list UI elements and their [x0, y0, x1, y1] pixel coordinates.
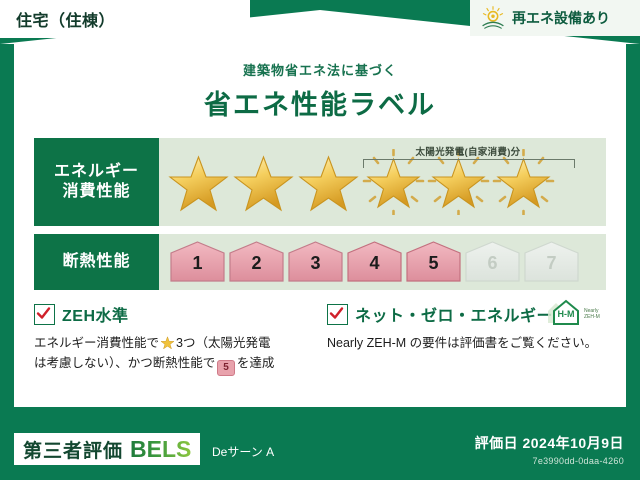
energy-performance-row: エネルギー 消費性能 [34, 138, 606, 226]
building-type-text: 住宅（住棟） [16, 7, 115, 31]
insulation-grade-3: 3 [287, 240, 344, 284]
main-card: 建築物省エネ法に基づく 省エネ性能ラベル エネルギー 消費性能 [14, 44, 626, 407]
logo-sub-2: ZEH-M [584, 314, 600, 320]
nzeb-body-text: Nearly ZEH-M の要件は評価書をご覧ください。 [327, 333, 606, 353]
footer-bar: 第三者評価 BELS Deサーン A 評価日 2024年10月9日 7e3990… [0, 421, 640, 480]
insulation-row-body: 1 2 3 [159, 234, 606, 290]
grade-number: 2 [228, 253, 285, 274]
renewable-badge-text: 再エネ設備あり [512, 8, 610, 28]
criteria-section: ZEH水準 エネルギー消費性能で3つ（太陽光発電は考慮しない）、かつ断熱性能で5… [14, 302, 626, 376]
zeh-body-part3: を達成 [237, 356, 275, 370]
nzeb-title: ネット・ゼロ・エネルギー [355, 302, 553, 326]
rating-rows: エネルギー 消費性能 [14, 138, 626, 290]
energy-performance-label: 住宅（住棟） 再エネ設備あり 建築物省エネ法に基づく [0, 0, 640, 480]
inline-grade-badge: 5 [217, 360, 235, 376]
grade-number: 5 [405, 253, 462, 274]
sun-renewable-icon [480, 5, 506, 31]
zeh-body-text: エネルギー消費性能で3つ（太陽光発電は考慮しない）、かつ断熱性能で5を達成 [34, 333, 313, 376]
zeh-checkbox[interactable] [34, 304, 55, 325]
insulation-grade-2: 2 [228, 240, 285, 284]
building-type-tag: 住宅（住棟） [0, 0, 250, 38]
insulation-grade-4: 4 [346, 240, 403, 284]
insulation-grade-5: 5 [405, 240, 462, 284]
insulation-grade-scale: 1 2 3 [169, 240, 580, 284]
insulation-grade-1: 1 [169, 240, 226, 284]
zeh-body-part2: は考慮しない）、かつ断熱性能で [34, 356, 215, 370]
bels-logo-text: BELS [130, 436, 191, 463]
star-3 [297, 149, 360, 215]
grade-number: 7 [523, 253, 580, 274]
evaluation-date: 評価日 2024年10月9日 [475, 433, 624, 453]
solar-share-bracket: 太陽光発電(自家消費)分 [359, 144, 577, 168]
zeh-m-logo-icon: H-M Nearly ZEH-M [538, 297, 600, 331]
insulation-label-text: 断熱性能 [62, 252, 130, 272]
zeh-header: ZEH水準 [34, 302, 313, 326]
title-subtitle: 建築物省エネ法に基づく [14, 60, 626, 79]
inline-star-icon [160, 335, 175, 350]
grade-number: 4 [346, 253, 403, 274]
grade-number: 3 [287, 253, 344, 274]
star-1 [167, 149, 230, 215]
energy-label-line1: エネルギー [54, 162, 139, 182]
insulation-performance-row: 断熱性能 [34, 234, 606, 290]
insulation-grade-6: 6 [464, 240, 521, 284]
star-2 [232, 149, 295, 215]
title-block: 建築物省エネ法に基づく 省エネ性能ラベル [14, 44, 626, 122]
nzeb-criterion: ネット・ゼロ・エネルギー H-M Nearly ZEH-M Nearly ZEH… [327, 302, 606, 376]
grade-number: 6 [464, 253, 521, 274]
solar-share-note: 太陽光発電(自家消費)分 [359, 144, 577, 158]
zeh-body-part1: エネルギー消費性能で [34, 336, 159, 350]
zeh-criterion: ZEH水準 エネルギー消費性能で3つ（太陽光発電は考慮しない）、かつ断熱性能で5… [34, 302, 313, 376]
zeh-star-count: 3つ（太陽光発電 [176, 336, 270, 350]
check-icon [329, 306, 344, 321]
grade-number: 1 [169, 253, 226, 274]
insulation-row-label: 断熱性能 [34, 234, 159, 290]
check-icon [36, 306, 51, 321]
energy-label-line2: 消費性能 [62, 182, 130, 202]
renewable-equipment-badge: 再エネ設備あり [470, 0, 640, 36]
zeh-title: ZEH水準 [62, 302, 129, 326]
document-id: 7e3990dd-0daa-4260 [475, 456, 624, 466]
energy-row-body: 太陽光発電(自家消費)分 [159, 138, 606, 226]
third-party-label: 第三者評価 [23, 436, 123, 463]
building-name: Deサーン A [212, 443, 274, 460]
insulation-grade-7: 7 [523, 240, 580, 284]
svg-text:H-M: H-M [558, 309, 575, 319]
header-bar: 住宅（住棟） 再エネ設備あり [0, 0, 640, 44]
footer-right: 評価日 2024年10月9日 7e3990dd-0daa-4260 [475, 433, 624, 466]
energy-row-label: エネルギー 消費性能 [34, 138, 159, 226]
nzeb-checkbox[interactable] [327, 304, 348, 325]
bels-third-party-badge: 第三者評価 BELS [14, 433, 200, 465]
page-title: 省エネ性能ラベル [14, 83, 626, 122]
bracket-line [363, 159, 575, 168]
